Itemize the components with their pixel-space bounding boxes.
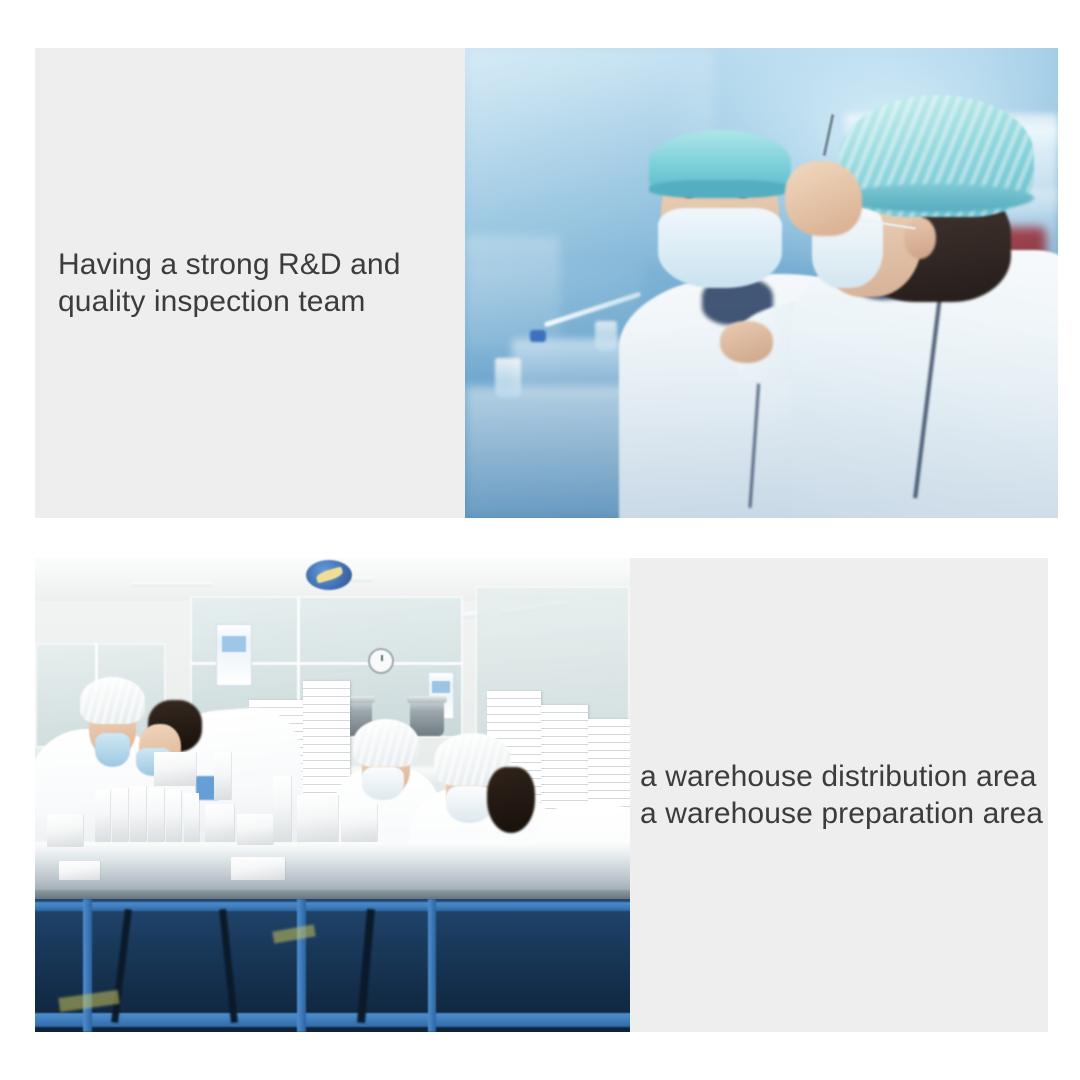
worker-1-hairnet (80, 677, 145, 724)
worker-3-mask (362, 767, 404, 800)
block-rnd-quality: Having a strong R&D and quality inspecti… (35, 48, 1058, 518)
worker-4-mask (446, 786, 494, 824)
lab-qc-technicians-photo (465, 48, 1058, 518)
banner-page: Having a strong R&D and quality inspecti… (0, 0, 1080, 1080)
technician-b-hand (785, 161, 862, 236)
caption-panel-rnd: Having a strong R&D and quality inspecti… (35, 48, 465, 518)
worker-1-mask (95, 733, 131, 766)
worker-3-hairnet (353, 719, 418, 766)
block-warehouse-areas: a warehouse distribution area a warehous… (35, 558, 1048, 1032)
steel-worktable (35, 842, 630, 894)
wall-notice-sign (216, 624, 252, 686)
caption-rnd-quality: Having a strong R&D and quality inspecti… (58, 246, 465, 320)
caption-warehouse-areas: a warehouse distribution area a warehous… (640, 758, 1048, 832)
company-logo (306, 560, 352, 590)
warehouse-background (35, 558, 630, 1032)
caption-panel-warehouse: a warehouse distribution area a warehous… (630, 558, 1048, 1032)
lab-background (465, 48, 1058, 518)
warehouse-packing-photo (35, 558, 630, 1032)
technician-a-mask (658, 208, 783, 288)
